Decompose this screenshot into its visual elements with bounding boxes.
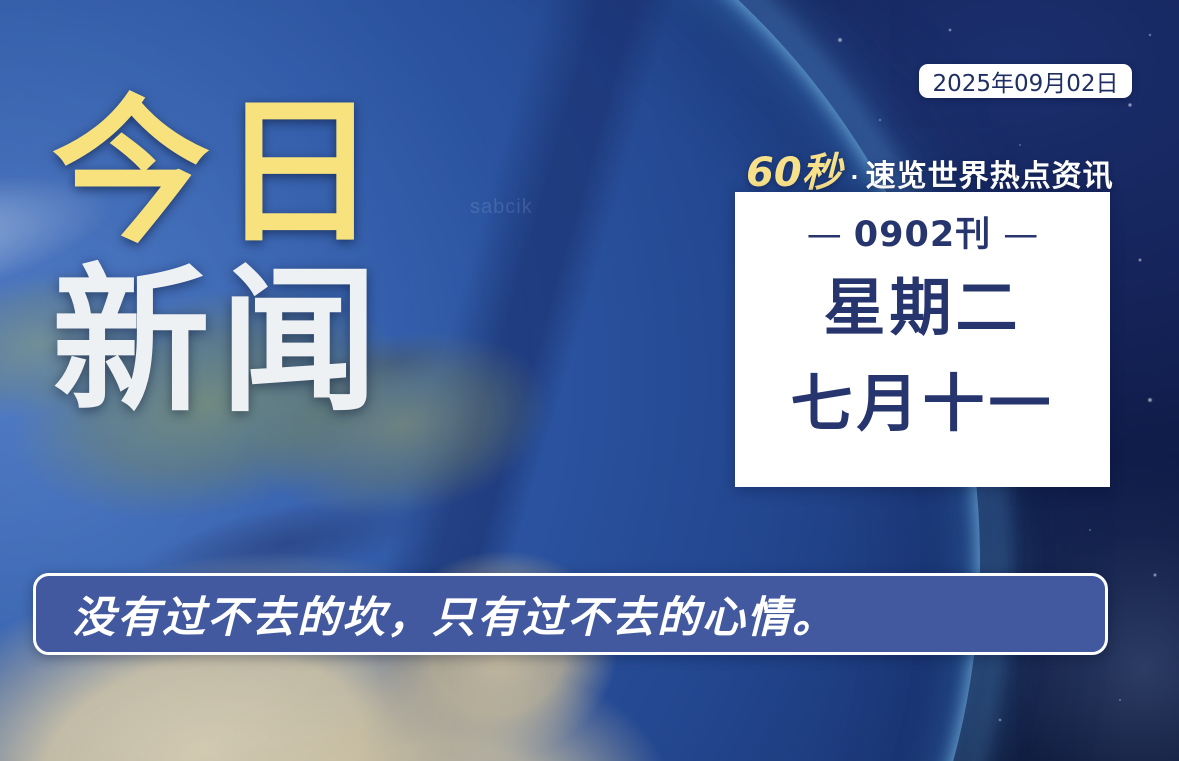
page-title-line-2: 新闻 xyxy=(52,265,388,420)
quote-text: 没有过不去的坎，只有过不去的心情。 xyxy=(36,583,837,645)
issue-dash-left: — xyxy=(795,215,854,255)
tagline-separator: · xyxy=(851,162,860,193)
tagline-highlight: 60秒 xyxy=(746,140,842,198)
page-title-line-1: 今日 xyxy=(52,96,388,251)
tagline-rest: 速览世界热点资讯 xyxy=(866,151,1114,195)
news-poster: sabcik 今日 新闻 2025年09月02日 60秒 · 速览世界热点资讯 … xyxy=(0,0,1179,761)
poster-title: 今日 新闻 xyxy=(52,96,388,420)
quote-banner: 没有过不去的坎，只有过不去的心情。 xyxy=(33,573,1108,655)
lunar-date-label: 七月十一 xyxy=(790,373,1054,435)
date-badge: 2025年09月02日 xyxy=(919,64,1132,98)
watermark-text: sabcik xyxy=(470,196,533,219)
weekday-label: 星期二 xyxy=(823,277,1021,339)
issue-label: 0902刊 xyxy=(854,215,991,255)
issue-row: —0902刊— xyxy=(795,206,1050,257)
date-badge-label: 2025年09月02日 xyxy=(932,64,1118,98)
issue-dash-right: — xyxy=(991,215,1050,255)
date-info-card: —0902刊— 星期二 七月十一 xyxy=(735,192,1110,487)
tagline: 60秒 · 速览世界热点资讯 xyxy=(746,140,1114,198)
